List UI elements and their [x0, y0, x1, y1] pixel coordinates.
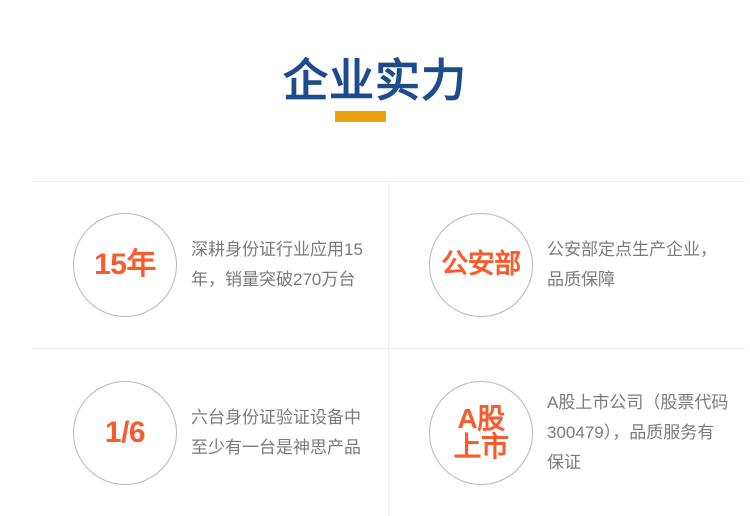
badge-circle-1: 15年: [73, 213, 177, 317]
strength-cell-4: A股 上市 A股上市公司（股票代码300479），品质服务有保证: [389, 349, 744, 516]
strength-description-2: 公安部定点生产企业，品质保障: [547, 235, 737, 295]
strength-cell-2: 公安部 公安部定点生产企业，品质保障: [389, 181, 744, 348]
section-header: 企业实力: [0, 58, 750, 130]
strength-grid: 15年 深耕身份证行业应用15年，销量突破270万台 公安部 公安部定点生产企业…: [33, 181, 745, 516]
enterprise-strength-section: 企业实力 15年 深耕身份证行业应用15年，销量突破270万台 公安部 公安部定…: [0, 0, 750, 516]
strength-description-4: A股上市公司（股票代码300479），品质服务有保证: [547, 388, 737, 478]
strength-description-3: 六台身份证验证设备中至少有一台是神思产品: [191, 403, 381, 463]
strength-cell-3: 1/6 六台身份证验证设备中至少有一台是神思产品: [33, 349, 388, 516]
title-underline-highlight: [335, 111, 386, 122]
badge-label-2: 公安部: [441, 250, 521, 278]
strength-description-1: 深耕身份证行业应用15年，销量突破270万台: [191, 235, 381, 295]
badge-label-3: 1/6: [105, 417, 145, 449]
strength-cell-1: 15年 深耕身份证行业应用15年，销量突破270万台: [33, 181, 388, 348]
badge-circle-4: A股 上市: [429, 381, 533, 485]
badge-label-4: A股 上市: [453, 405, 508, 461]
section-title-wrapper: 企业实力: [283, 58, 467, 103]
page-title: 企业实力: [283, 55, 467, 106]
badge-circle-2: 公安部: [429, 213, 533, 317]
badge-circle-3: 1/6: [73, 381, 177, 485]
badge-label-1: 15年: [94, 249, 156, 281]
